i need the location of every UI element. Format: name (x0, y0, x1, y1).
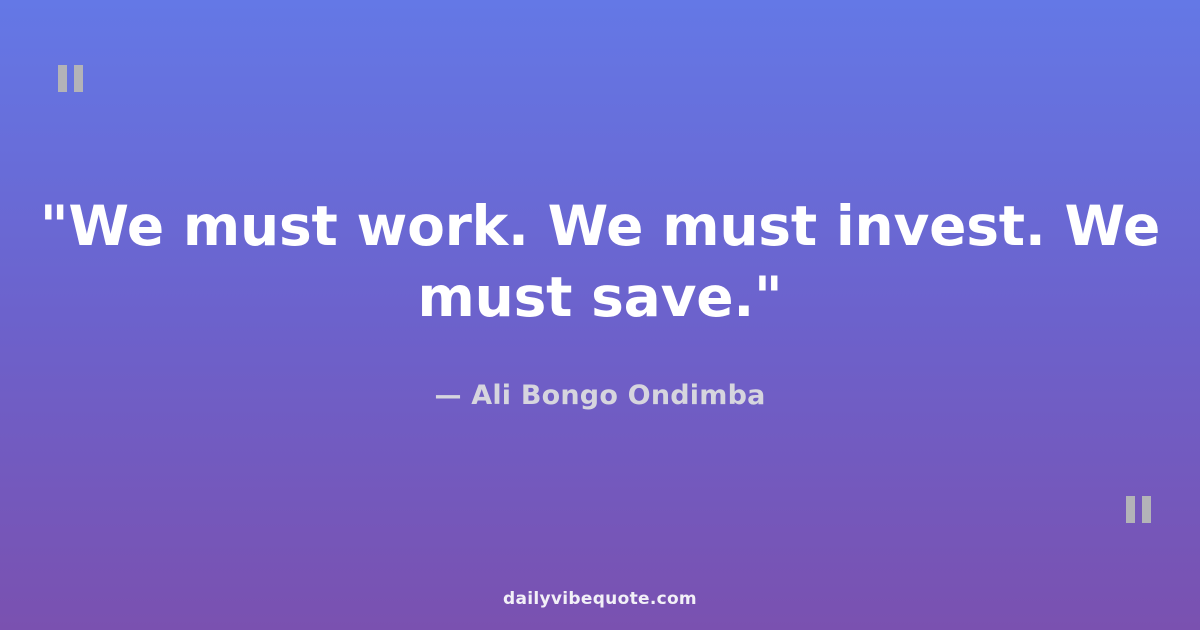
quote-content: "We must work. We must invest. We must s… (0, 0, 1200, 630)
quote-mark-bar (1126, 496, 1135, 523)
quote-mark-bar (1142, 496, 1151, 523)
quote-card: "We must work. We must invest. We must s… (0, 0, 1200, 630)
quote-text: "We must work. We must invest. We must s… (12, 191, 1188, 332)
quote-attribution: — Ali Bongo Ondimba (434, 332, 765, 411)
site-watermark: dailyvibequote.com (0, 589, 1200, 609)
quote-mark-icon-bottom-right (1126, 496, 1151, 523)
